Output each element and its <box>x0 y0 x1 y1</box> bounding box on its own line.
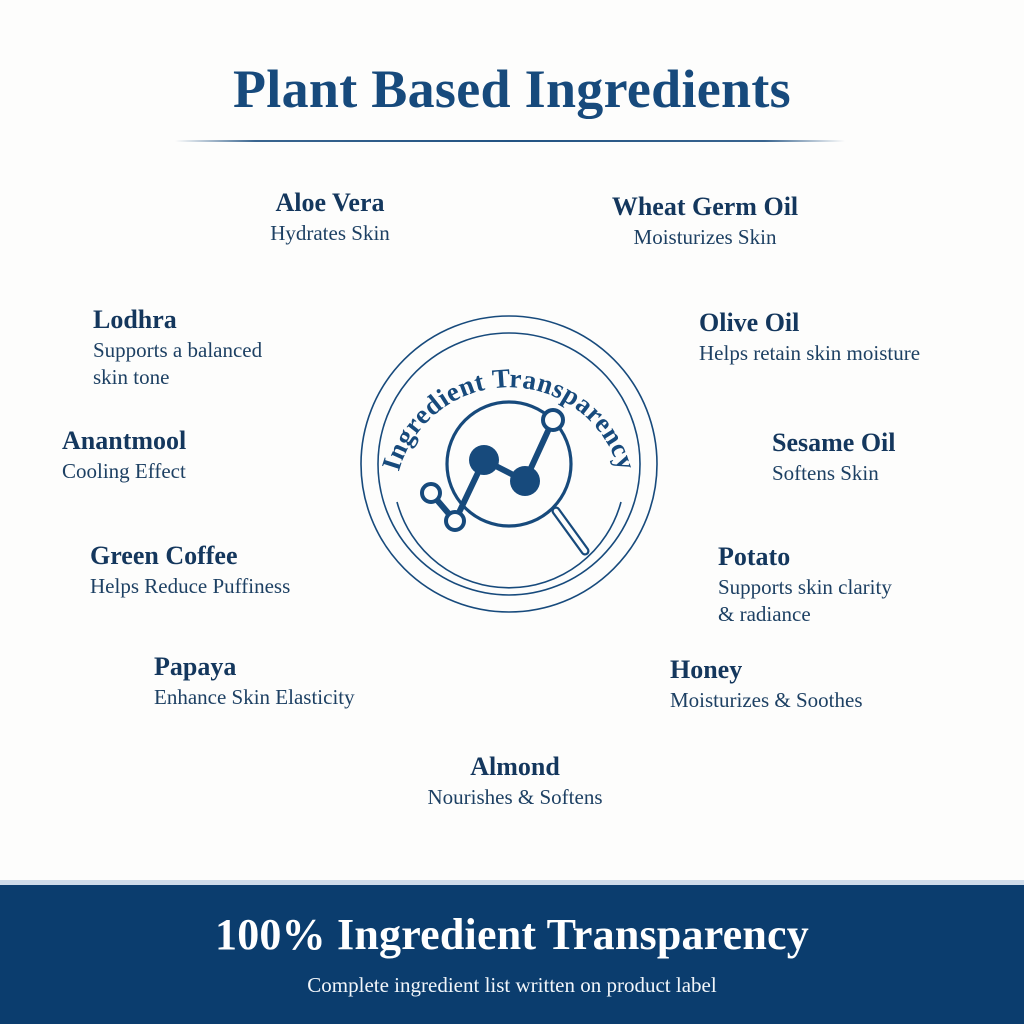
infographic-page: Plant Based Ingredients Aloe Vera Hydrat… <box>0 0 1024 1024</box>
magnifier-handle-inner <box>556 511 585 551</box>
ingredient-name: Papaya <box>154 652 454 681</box>
ingredient-papaya: Papaya Enhance Skin Elasticity <box>154 652 454 711</box>
ingredient-wheat-germ-oil: Wheat Germ Oil Moisturizes Skin <box>555 192 855 251</box>
ingredient-desc: Nourishes & Softens <box>385 784 645 811</box>
ingredient-honey: Honey Moisturizes & Soothes <box>670 655 970 714</box>
ingredient-name: Anantmool <box>62 426 342 455</box>
ingredient-transparency-emblem: Ingredient Transparency <box>357 312 661 616</box>
emblem-curved-text: Ingredient Transparency <box>376 363 642 474</box>
ingredient-desc: Moisturizes Skin <box>555 224 855 251</box>
ingredient-desc: Helps Reduce Puffiness <box>90 573 390 600</box>
banner-title: 100% Ingredient Transparency <box>215 911 809 959</box>
ingredient-olive-oil: Olive Oil Helps retain skin moisture <box>699 308 1009 367</box>
ingredient-anantmool: Anantmool Cooling Effect <box>62 426 342 485</box>
title-divider <box>175 140 845 142</box>
ingredient-name: Green Coffee <box>90 541 390 570</box>
ingredient-desc: Enhance Skin Elasticity <box>154 684 454 711</box>
emblem-svg: Ingredient Transparency <box>357 312 661 616</box>
ingredient-name: Almond <box>385 752 645 781</box>
ingredient-name: Honey <box>670 655 970 684</box>
molecule-nodes <box>422 410 563 530</box>
ingredient-potato: Potato Supports skin clarity& radiance <box>718 542 1008 628</box>
ingredient-name: Wheat Germ Oil <box>555 192 855 221</box>
emblem-inner-ring <box>378 333 640 595</box>
ingredient-desc: Softens Skin <box>772 460 1022 487</box>
ingredient-desc: Supports a balancedskin tone <box>93 337 383 391</box>
banner-subtitle: Complete ingredient list written on prod… <box>307 973 716 998</box>
bottom-banner: 100% Ingredient Transparency Complete in… <box>0 885 1024 1024</box>
ingredient-sesame-oil: Sesame Oil Softens Skin <box>772 428 1022 487</box>
ingredient-green-coffee: Green Coffee Helps Reduce Puffiness <box>90 541 390 600</box>
ingredient-desc: Helps retain skin moisture <box>699 340 1009 367</box>
page-title: Plant Based Ingredients <box>0 58 1024 120</box>
ingredient-aloe-vera: Aloe Vera Hydrates Skin <box>200 188 460 247</box>
emblem-lower-arc <box>397 502 621 588</box>
ingredient-name: Lodhra <box>93 305 383 334</box>
ingredient-name: Aloe Vera <box>200 188 460 217</box>
ingredient-desc: Supports skin clarity& radiance <box>718 574 1008 628</box>
ingredient-name: Olive Oil <box>699 308 1009 337</box>
ingredient-desc: Moisturizes & Soothes <box>670 687 970 714</box>
ingredient-desc: Hydrates Skin <box>200 220 460 247</box>
ingredient-desc: Cooling Effect <box>62 458 342 485</box>
ingredient-name: Potato <box>718 542 1008 571</box>
ingredient-almond: Almond Nourishes & Softens <box>385 752 645 811</box>
ingredient-name: Sesame Oil <box>772 428 1022 457</box>
ingredient-lodhra: Lodhra Supports a balancedskin tone <box>93 305 383 391</box>
